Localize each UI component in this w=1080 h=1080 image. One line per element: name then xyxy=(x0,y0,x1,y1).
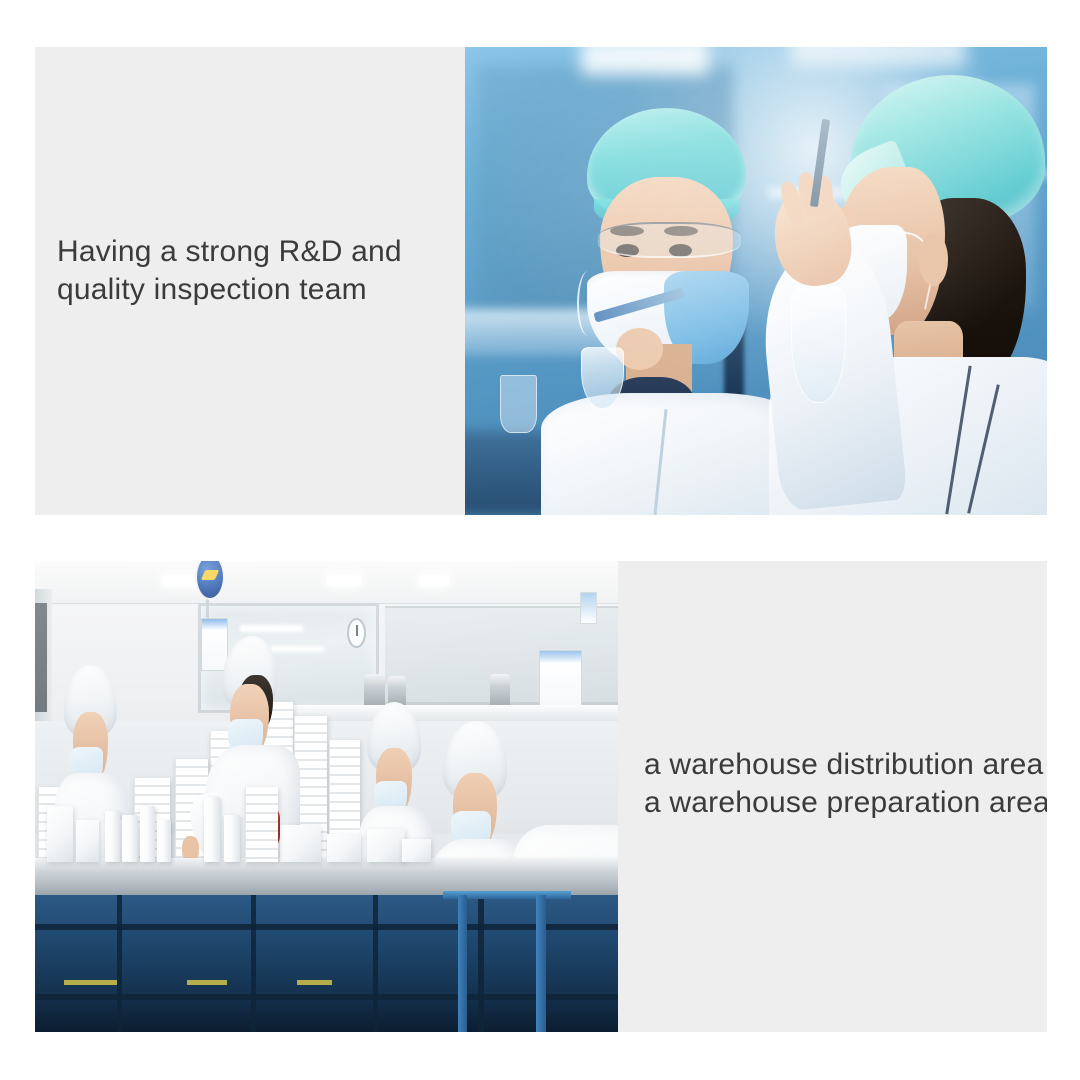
lab-scene xyxy=(465,47,1047,515)
table-frame-bar xyxy=(35,924,618,931)
blue-table-leg xyxy=(458,895,467,1032)
table-underframe xyxy=(35,895,618,1032)
yellow-floor-tape xyxy=(187,980,228,985)
caption-rd-quality-inspection: Having a strong R&D and quality inspecti… xyxy=(57,233,457,309)
worker-ear xyxy=(919,233,947,286)
table-frame-bar xyxy=(478,895,484,1032)
window-inner-light xyxy=(271,646,323,652)
yellow-floor-tape xyxy=(297,980,332,985)
carton-tube xyxy=(122,815,137,862)
carton-box xyxy=(367,829,405,862)
wall-notice-poster xyxy=(580,592,597,625)
caption-warehouse-areas: a warehouse distribution area a warehous… xyxy=(644,746,1047,822)
carton-box xyxy=(76,820,99,862)
carton-tube xyxy=(105,811,120,863)
caption-pane-bottom: a warehouse distribution area a warehous… xyxy=(618,561,1047,1032)
table-frame-bar xyxy=(35,994,618,1000)
lab-glassware xyxy=(500,375,537,433)
carton-stack xyxy=(245,787,278,862)
poster-canvas: Having a strong R&D and quality inspecti… xyxy=(0,0,1080,1080)
carton-tube xyxy=(204,797,220,863)
packaging-scene xyxy=(35,561,618,1032)
steel-canister xyxy=(490,674,510,707)
carton-tube xyxy=(157,820,171,862)
wall-dark-panel xyxy=(35,603,47,711)
carton-box xyxy=(402,839,431,863)
safety-glasses-icon xyxy=(598,222,741,259)
carton-box xyxy=(327,834,362,862)
carton-box xyxy=(280,825,321,863)
mask-ear-loop xyxy=(577,271,599,336)
caption-pane-top: Having a strong R&D and quality inspecti… xyxy=(35,47,465,515)
lab-worker-profile xyxy=(756,75,1047,515)
lab-flask-icon xyxy=(791,286,846,402)
blue-table-leg xyxy=(536,895,545,1032)
table-frame-bar xyxy=(251,895,256,1032)
wall-clock-icon xyxy=(347,618,366,648)
table-frame-bar xyxy=(373,895,378,1032)
lab-quality-inspection-photo xyxy=(465,47,1047,515)
ceiling-light-icon xyxy=(327,575,362,586)
lab-ceiling-light-icon xyxy=(791,47,966,66)
lab-ceiling-light-icon xyxy=(581,47,709,75)
ceiling-light-icon xyxy=(420,575,449,586)
carton-box xyxy=(47,806,73,863)
table-frame-bar xyxy=(117,895,123,1032)
carton-tube xyxy=(224,815,239,862)
carton-tube xyxy=(140,806,155,863)
section-rd-quality-inspection: Having a strong R&D and quality inspecti… xyxy=(35,47,1047,515)
warehouse-packaging-photo xyxy=(35,561,618,1032)
section-warehouse-areas: a warehouse distribution area a warehous… xyxy=(35,561,1047,1032)
window-inner-light xyxy=(240,625,303,632)
yellow-floor-tape xyxy=(64,980,116,985)
